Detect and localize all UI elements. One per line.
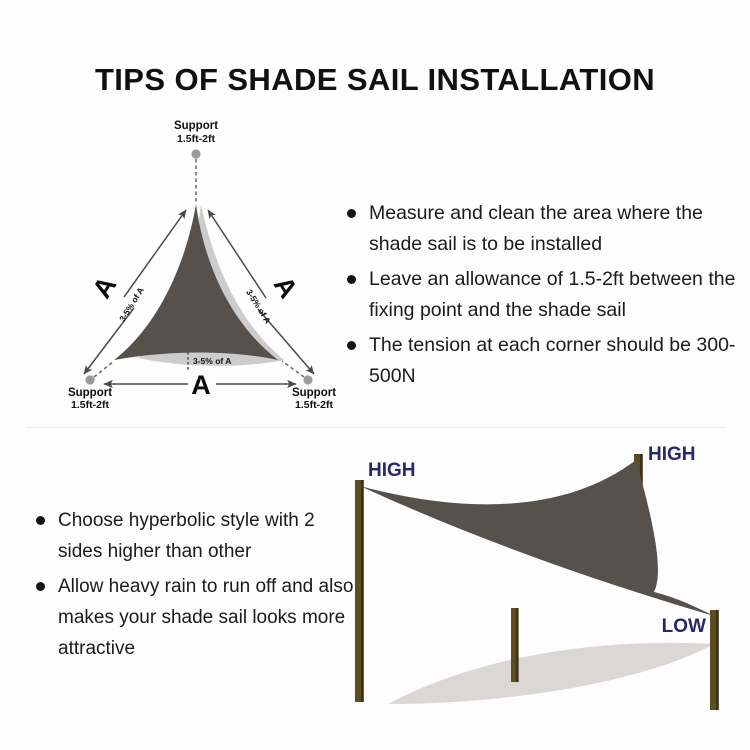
bullet-dot-icon xyxy=(347,209,356,218)
bullet-dot-icon xyxy=(36,516,45,525)
list-item: The tension at each corner should be 300… xyxy=(345,330,737,392)
support-label-top: Support xyxy=(174,120,218,132)
ground-shadow-shape xyxy=(388,643,714,704)
hyperbolic-shade-sail-diagram: HIGH HIGH LOW xyxy=(348,432,746,722)
tips-list-hyperbolic: Choose hyperbolic style with 2 sides hig… xyxy=(34,505,354,668)
label-high-right: HIGH xyxy=(648,444,696,465)
list-item: Choose hyperbolic style with 2 sides hig… xyxy=(34,505,354,567)
support-sub-top: 1.5ft-2ft xyxy=(177,133,215,145)
infographic-page: TIPS OF SHADE SAIL INSTALLATION Support … xyxy=(0,0,750,750)
label-high-left: HIGH xyxy=(368,460,416,481)
support-sub-bottom-left: 1.5ft-2ft xyxy=(71,399,109,411)
support-dot-bottom-right xyxy=(303,375,312,384)
support-dot-top xyxy=(191,149,200,158)
list-item-text: Allow heavy rain to run off and also mak… xyxy=(58,576,353,659)
dim-note-right: 3-5% of A xyxy=(244,287,273,325)
list-item: Leave an allowance of 1.5-2ft between th… xyxy=(345,264,737,326)
bullet-dot-icon xyxy=(36,582,45,591)
dim-letter-left: A xyxy=(86,271,122,303)
tips-list-installation: Measure and clean the area where the sha… xyxy=(345,198,737,396)
list-item-text: The tension at each corner should be 300… xyxy=(369,334,735,387)
page-title: TIPS OF SHADE SAIL INSTALLATION xyxy=(0,62,750,98)
label-low: LOW xyxy=(662,616,706,637)
support-sub-bottom-right: 1.5ft-2ft xyxy=(295,399,333,411)
list-item: Allow heavy rain to run off and also mak… xyxy=(34,571,354,664)
dim-letter-right: A xyxy=(268,271,304,303)
post-right-low xyxy=(710,610,719,710)
support-dot-bottom-left xyxy=(85,375,94,384)
post-middle xyxy=(511,608,519,682)
triangle-shade-sail-diagram: Support 1.5ft-2ft Support 1.5ft-2ft Supp… xyxy=(26,112,356,412)
support-label-bottom-right: Support xyxy=(292,387,336,399)
dim-note-left: 3-5% of A xyxy=(117,285,146,323)
list-item: Measure and clean the area where the sha… xyxy=(345,198,737,260)
section-divider xyxy=(26,427,726,428)
bullet-dot-icon xyxy=(347,275,356,284)
post-left-high xyxy=(355,480,364,702)
support-label-bottom-left: Support xyxy=(68,387,112,399)
dim-note-bottom: 3-5% of A xyxy=(193,356,231,366)
support-line-bottom-left xyxy=(94,361,114,377)
list-item-text: Leave an allowance of 1.5-2ft between th… xyxy=(369,268,735,321)
list-item-text: Choose hyperbolic style with 2 sides hig… xyxy=(58,510,315,562)
dim-letter-bottom: A xyxy=(191,370,211,400)
hyperbolic-sail-shape xyxy=(360,460,714,616)
bullet-dot-icon xyxy=(347,341,356,350)
support-line-bottom-right xyxy=(282,361,304,377)
list-item-text: Measure and clean the area where the sha… xyxy=(369,202,703,255)
